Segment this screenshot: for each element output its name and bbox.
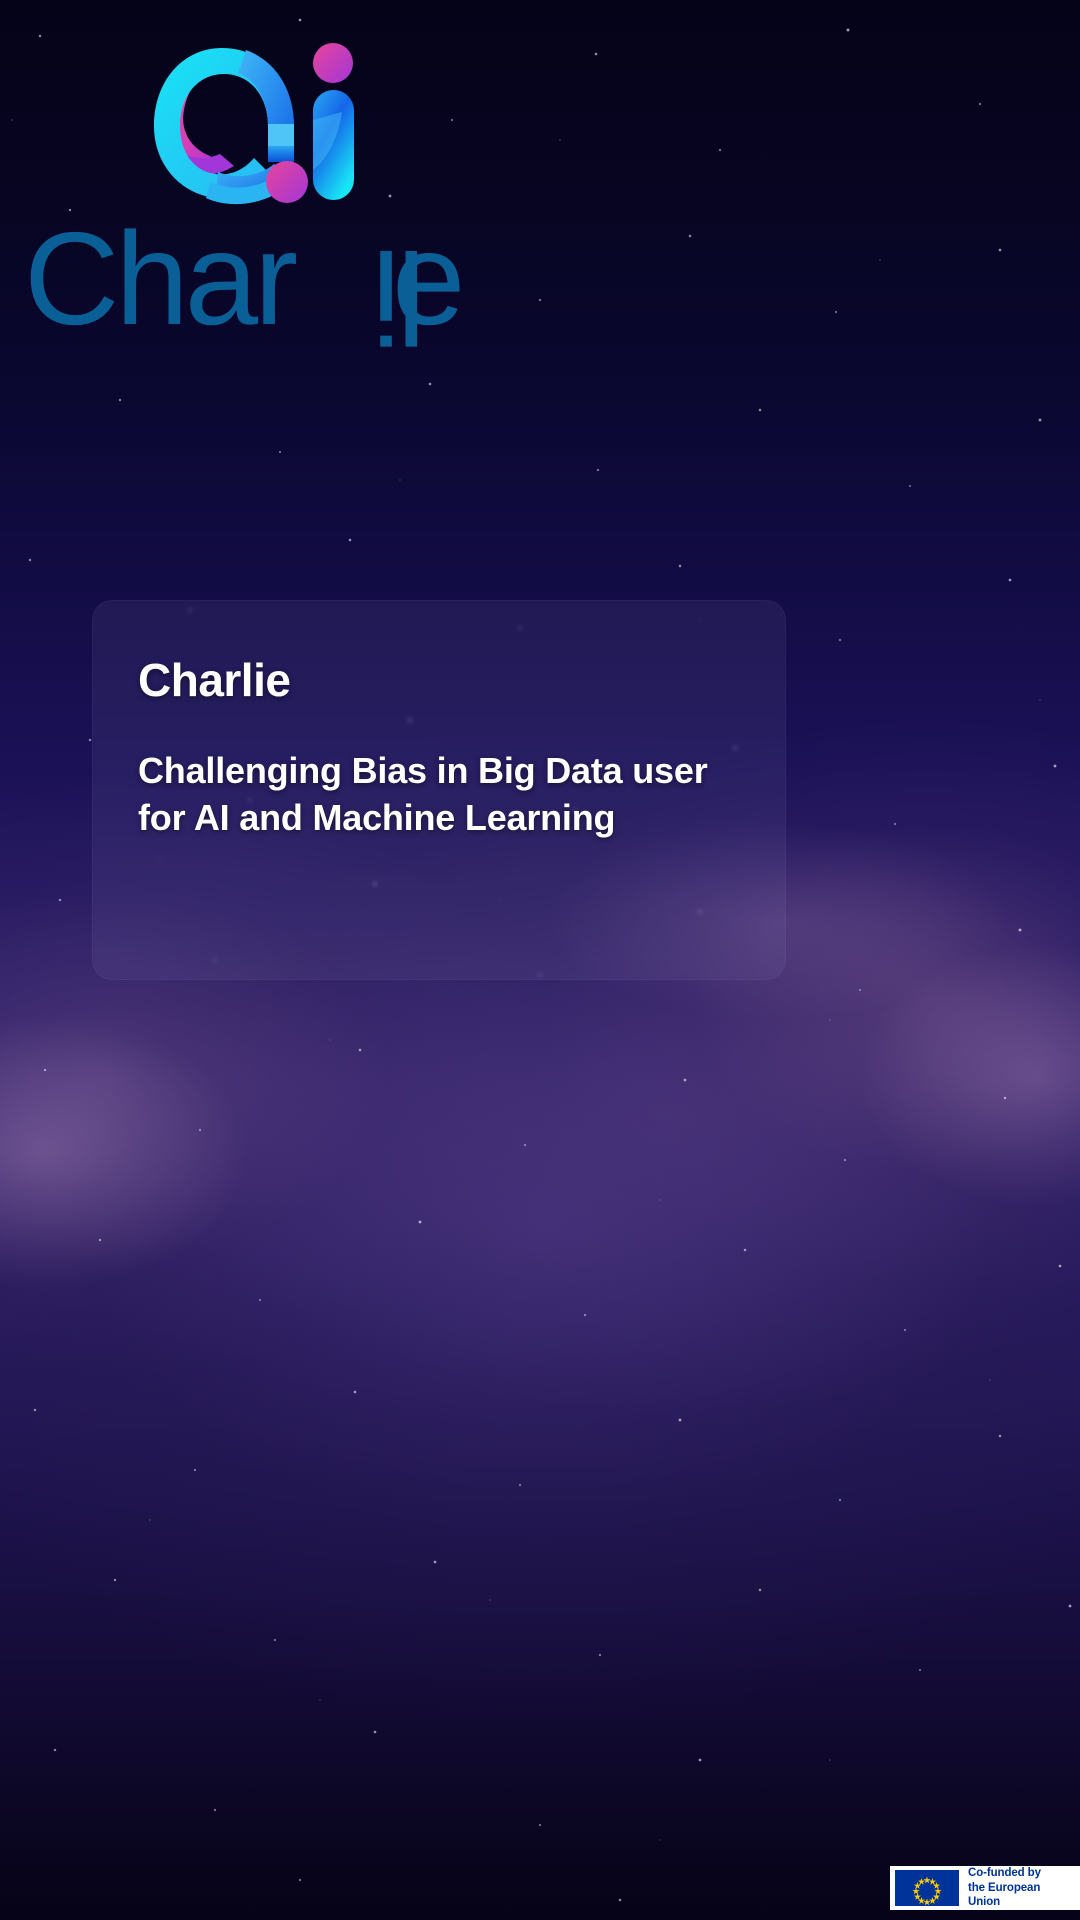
eu-funding-badge: Co-funded bythe European Union: [890, 1866, 1080, 1910]
eu-funding-line-2: the European Union: [968, 1882, 1040, 1908]
svg-text:Char: Char: [24, 220, 296, 350]
eu-funding-line-1: Co-funded by: [968, 1867, 1041, 1879]
logo-dot-upper: [313, 43, 353, 83]
eu-funding-label: Co-funded bythe European Union: [968, 1866, 1074, 1909]
charlie-wordmark: Char li e: [18, 220, 538, 350]
card-description: Challenging Bias in Big Data user for AI…: [138, 748, 718, 842]
poster-canvas: Char li e Charlie Challenging Bias in Bi…: [0, 0, 1080, 1920]
european-union-flag-icon: [895, 1870, 959, 1906]
svg-text:e: e: [392, 220, 461, 350]
charlie-ai-head-logo-icon: [114, 30, 384, 230]
brand-logo: Char li e: [18, 24, 538, 334]
page-title: Charlie: [138, 656, 740, 704]
content-card: Charlie Challenging Bias in Big Data use…: [92, 600, 786, 980]
logo-dot-lower: [266, 161, 308, 203]
